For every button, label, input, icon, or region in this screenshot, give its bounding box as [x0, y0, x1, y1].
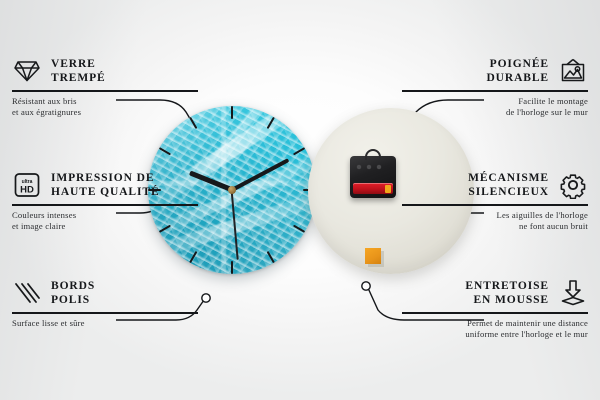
divider: [402, 312, 588, 314]
feature-description: Résistant aux bris et aux égratignures: [12, 96, 198, 119]
feature-header: POIGNÉE DURABLE: [402, 56, 588, 86]
foam-spacer: [365, 248, 381, 264]
mechanism-detail: [355, 163, 389, 172]
divider: [402, 90, 588, 92]
hour-marker: [231, 106, 233, 190]
clock-mechanism: [350, 156, 396, 198]
feature-title: MÉCANISME SILENCIEUX: [468, 171, 549, 199]
feature-header: BORDS POLIS: [12, 278, 198, 308]
feature-mecanisme-silencieux: MÉCANISME SILENCIEUX Les aiguilles de l'…: [402, 170, 588, 233]
feature-description: Couleurs intenses et image claire: [12, 210, 198, 233]
feature-title: VERRE TREMPÉ: [51, 57, 106, 85]
foam-spacer-icon: [558, 278, 588, 308]
polished-edges-icon: [12, 278, 42, 308]
divider: [12, 312, 198, 314]
feature-header: VERRE TREMPÉ: [12, 56, 198, 86]
feature-header: ultra HD IMPRESSION DE HAUTE QUALITÉ: [12, 170, 198, 200]
feature-impression-haute-qualite: ultra HD IMPRESSION DE HAUTE QUALITÉ Cou…: [12, 170, 198, 233]
feature-title: ENTRETOISE EN MOUSSE: [465, 279, 549, 307]
feature-description: Les aiguilles de l'horloge ne font aucun…: [402, 210, 588, 233]
infographic-canvas: VERRE TREMPÉ Résistant aux bris et aux é…: [0, 0, 600, 400]
feature-title: BORDS POLIS: [51, 279, 95, 307]
callout-marker-3: [202, 294, 210, 302]
feature-entretoise-en-mousse: ENTRETOISE EN MOUSSE Permet de maintenir…: [402, 278, 588, 341]
feature-poignee-durable: POIGNÉE DURABLE Facilite le montage de l…: [402, 56, 588, 119]
feature-bords-polis: BORDS POLIS Surface lisse et sûre: [12, 278, 198, 329]
battery: [353, 183, 393, 194]
divider: [12, 204, 198, 206]
hour-marker: [232, 189, 316, 191]
callout-marker-6: [362, 282, 370, 290]
feature-header: MÉCANISME SILENCIEUX: [402, 170, 588, 200]
feature-description: Surface lisse et sûre: [12, 318, 198, 330]
divider: [12, 90, 198, 92]
divider: [402, 204, 588, 206]
svg-text:HD: HD: [20, 185, 34, 196]
picture-hanger-icon: [558, 56, 588, 86]
diamond-icon: [12, 56, 42, 86]
feature-description: Facilite le montage de l'horloge sur le …: [402, 96, 588, 119]
hanger-hook-icon: [365, 149, 381, 160]
ultra-hd-icon: ultra HD: [12, 170, 42, 200]
feature-verre-trempe: VERRE TREMPÉ Résistant aux bris et aux é…: [12, 56, 198, 119]
feature-description: Permet de maintenir une distance uniform…: [402, 318, 588, 341]
hand-center-cap: [228, 186, 236, 194]
gear-icon: [558, 170, 588, 200]
feature-header: ENTRETOISE EN MOUSSE: [402, 278, 588, 308]
feature-title: IMPRESSION DE HAUTE QUALITÉ: [51, 171, 160, 199]
feature-title: POIGNÉE DURABLE: [486, 57, 549, 85]
